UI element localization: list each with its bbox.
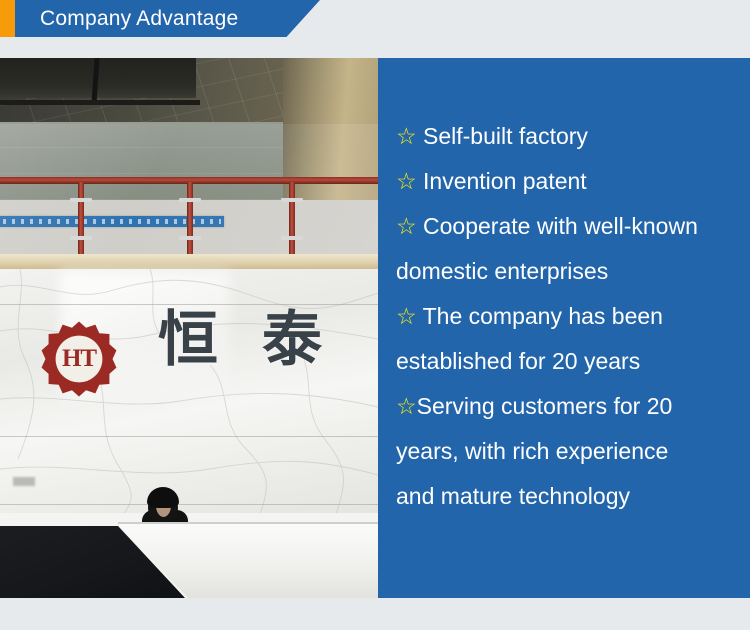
advantage-item-label: Cooperate with well-known: [417, 213, 698, 239]
page-header-banner: Company Advantage: [0, 0, 320, 37]
star-icon: ☆: [396, 213, 417, 239]
star-icon: ☆: [396, 123, 417, 149]
star-icon: ☆: [396, 168, 417, 194]
company-logo: HT: [40, 320, 118, 398]
advantage-panel: ☆ Self-built factory ☆ Invention patent …: [378, 58, 750, 598]
content-row: HT 恒 泰 ☆ Self-built factory ☆ Invention …: [0, 58, 750, 598]
advantage-item-continuation: established for 20 years: [396, 339, 744, 384]
advantage-item-label: Invention patent: [417, 168, 587, 194]
star-icon: ☆: [396, 393, 417, 419]
advantage-list: ☆ Self-built factory ☆ Invention patent …: [396, 114, 744, 519]
company-name-char-2: 泰: [262, 310, 322, 370]
advantage-item-label: The company has been: [417, 303, 663, 329]
advantage-item: ☆ The company has been: [396, 294, 744, 339]
advantage-item: ☆ Self-built factory: [396, 114, 744, 159]
photo-railing-post: [187, 182, 193, 262]
logo-monogram: HT: [40, 320, 118, 398]
photo-ceiling-beam-horizontal: [0, 100, 200, 105]
photo-marble-seam: [0, 436, 378, 437]
advantage-item-continuation: and mature technology: [396, 474, 744, 519]
footer-spacer: [0, 598, 750, 630]
photo-railing-post: [289, 182, 295, 262]
company-name-char-1: 恒: [158, 310, 218, 370]
photo-marble-seam: [0, 504, 378, 505]
photo-wall-smudge: [13, 477, 35, 486]
advantage-item-continuation: domestic enterprises: [396, 249, 744, 294]
advantage-item: ☆ Invention patent: [396, 159, 744, 204]
advantage-item: ☆ Cooperate with well-known: [396, 204, 744, 249]
advantage-item-label: Self-built factory: [417, 123, 588, 149]
page-title: Company Advantage: [40, 0, 238, 37]
photo-marble-ledge: [0, 254, 378, 270]
advantage-item-continuation: years, with rich experience: [396, 429, 744, 474]
advantage-item: ☆Serving customers for 20: [396, 384, 744, 429]
advantage-item-label: and mature technology: [396, 483, 630, 509]
advantage-item-label: established for 20 years: [396, 348, 640, 374]
star-icon: ☆: [396, 303, 417, 329]
photo-railing-post: [78, 182, 84, 262]
advantage-item-label: years, with rich experience: [396, 438, 668, 464]
advantage-item-label: Serving customers for 20: [417, 393, 673, 419]
company-photo: HT 恒 泰: [0, 58, 378, 598]
banner-accent-bar: [0, 0, 15, 37]
advantage-item-label: domestic enterprises: [396, 258, 608, 284]
